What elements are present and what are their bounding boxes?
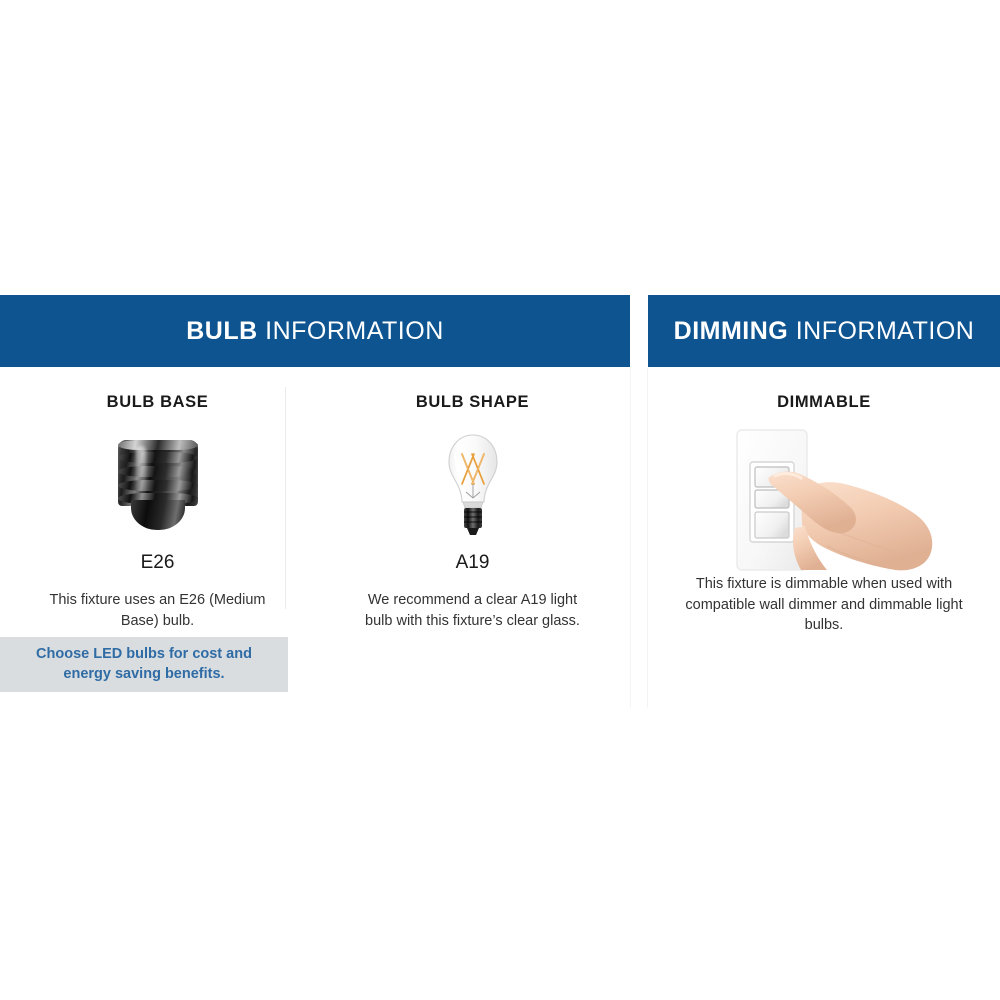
bulb-shape-value: A19 — [315, 552, 630, 574]
dimming-information-title: DIMMING INFORMATION — [674, 317, 975, 346]
bulb-information-header: BULB INFORMATION — [0, 295, 630, 367]
bulb-information-title-strong: BULB — [186, 317, 257, 345]
led-callout-text: Choose LED bulbs for cost and energy sav… — [19, 645, 269, 684]
bulb-information-title-light: INFORMATION — [265, 317, 444, 345]
dimming-information-title-strong: DIMMING — [674, 317, 789, 345]
dimmable-title: DIMMABLE — [648, 393, 1000, 412]
dimmable-column: DIMMABLE — [648, 367, 1000, 636]
dimming-information-panel: DIMMING INFORMATION DIMMABLE — [648, 295, 1000, 636]
dimming-information-title-light: INFORMATION — [796, 317, 975, 345]
bulb-shape-column: BULB SHAPE — [315, 367, 630, 631]
bulb-base-figure — [0, 426, 315, 546]
bulb-information-panel: BULB INFORMATION BULB BASE E26 — [0, 295, 630, 631]
dimming-columns: DIMMABLE — [648, 367, 1000, 636]
dimmable-figure — [648, 426, 1000, 574]
led-callout-box: Choose LED bulbs for cost and energy sav… — [0, 637, 288, 692]
bulb-shape-title: BULB SHAPE — [315, 393, 630, 412]
bulb-shape-description: We recommend a clear A19 light bulb with… — [355, 590, 590, 631]
bulb-base-description: This fixture uses an E26 (Medium Base) b… — [40, 590, 275, 631]
dimmable-description: This fixture is dimmable when used with … — [679, 574, 969, 636]
bulb-information-title: BULB INFORMATION — [186, 317, 444, 346]
bulb-base-column: BULB BASE E26 This fixture uses an E26 (… — [0, 367, 315, 631]
bulb-base-title: BULB BASE — [0, 393, 315, 412]
bulb-base-value: E26 — [0, 552, 315, 574]
wall-dimmer-switch-icon — [709, 426, 939, 574]
bulb-columns: BULB BASE E26 This fixture uses an E26 (… — [0, 367, 630, 631]
bulb-shape-figure — [315, 426, 630, 546]
bulb-base-e26-icon — [114, 440, 202, 532]
bulb-a19-icon — [442, 432, 504, 540]
panel-gutter-line-left — [630, 368, 631, 708]
dimming-information-header: DIMMING INFORMATION — [648, 295, 1000, 367]
